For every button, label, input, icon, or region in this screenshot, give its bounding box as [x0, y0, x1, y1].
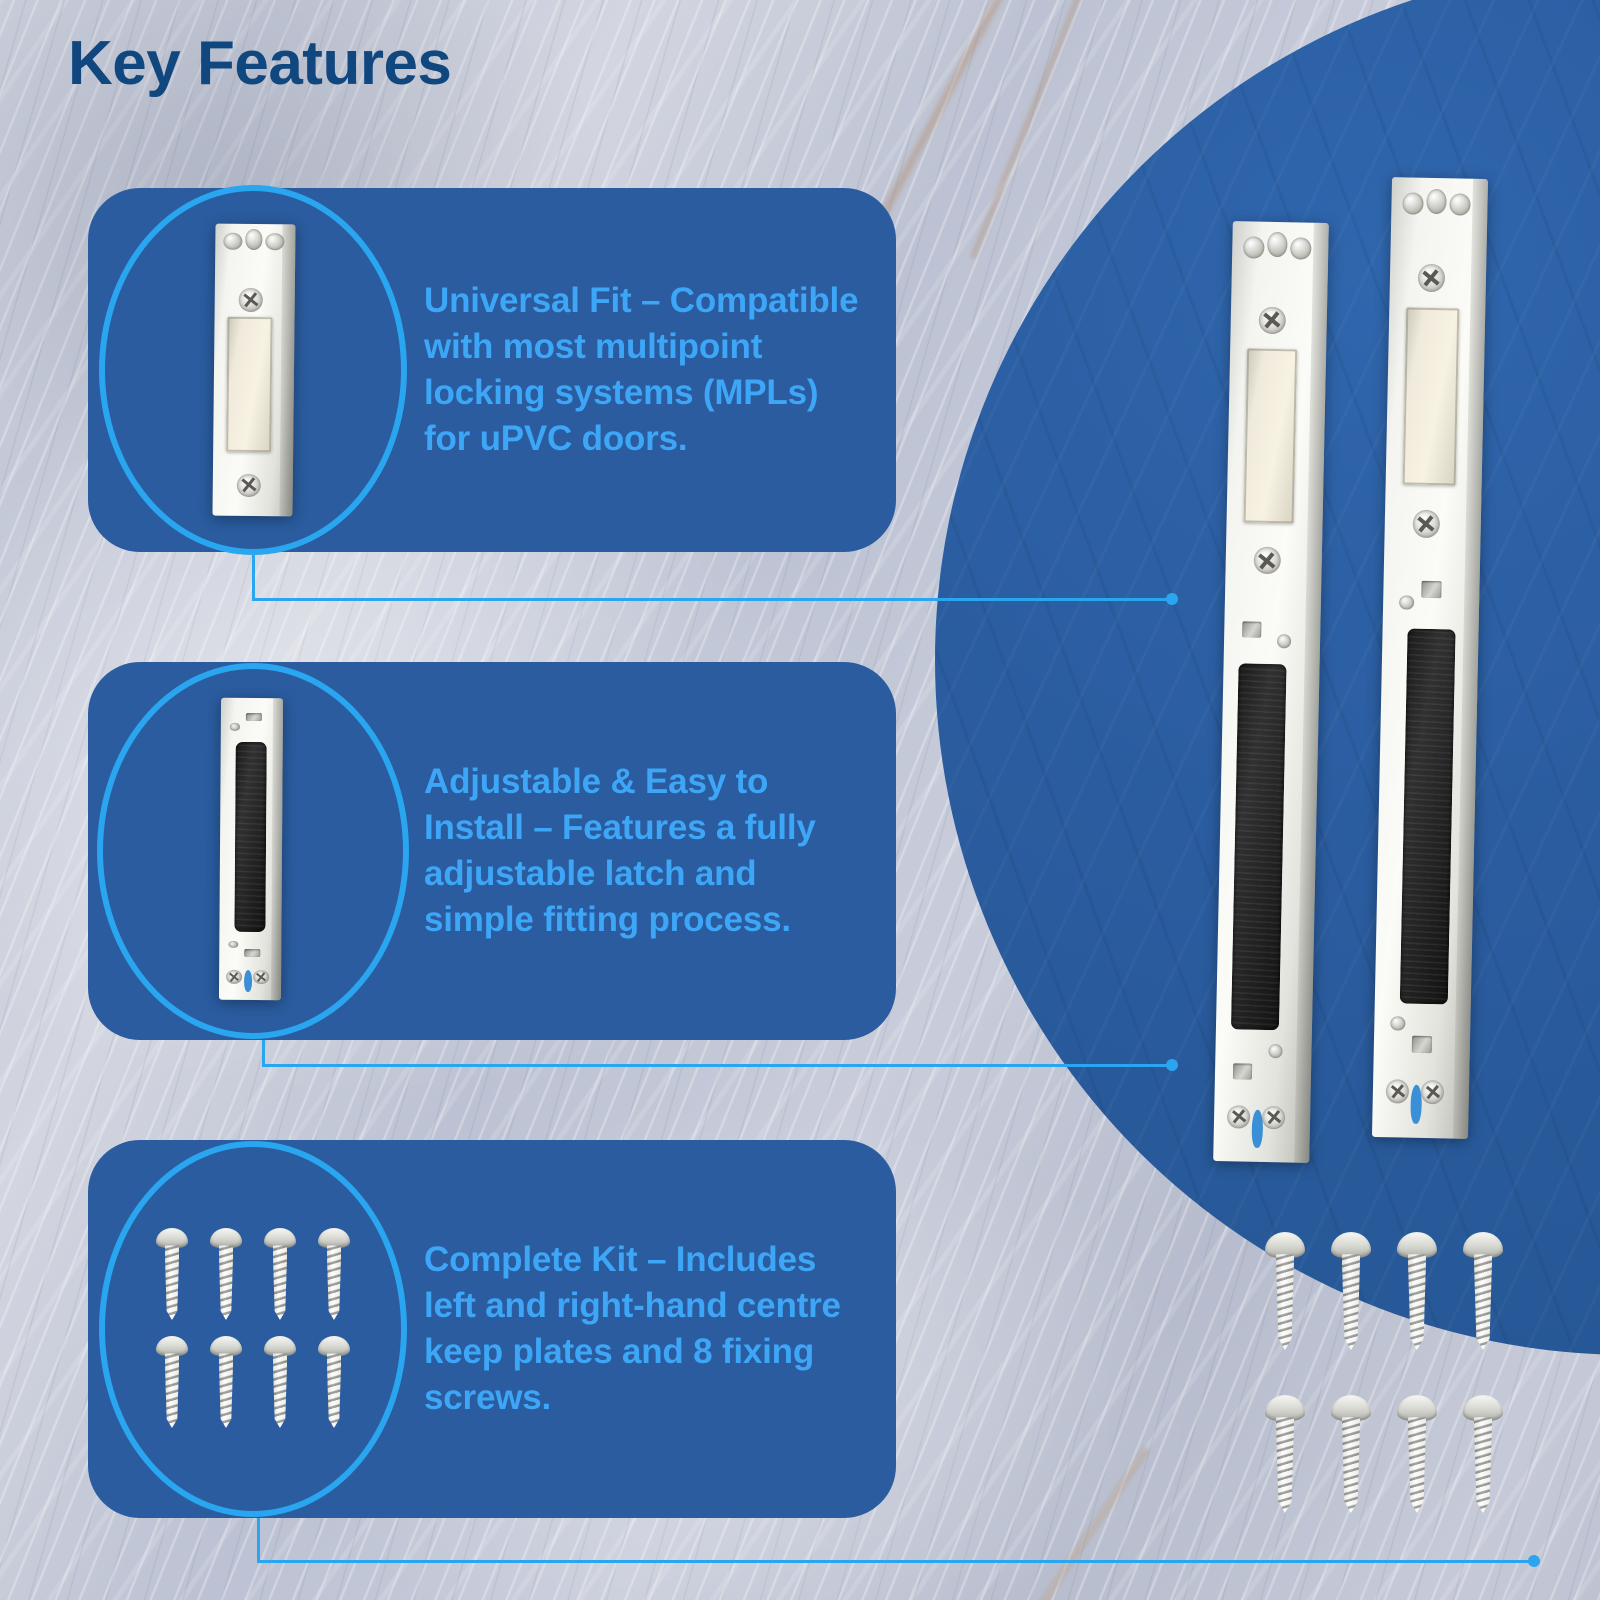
kit-screw	[264, 1336, 296, 1428]
connector-endpoint-dot	[1528, 1555, 1540, 1567]
screw-shaft	[273, 1245, 288, 1320]
connector-horizontal-segment	[257, 1560, 1532, 1563]
feature-card-adjustable-easy-install[interactable]: Adjustable & Easy to Install – Features …	[88, 662, 896, 1040]
kit-screw	[210, 1228, 242, 1320]
screw-shaft	[165, 1353, 180, 1428]
connector-vertical-segment	[257, 1512, 260, 1562]
plate-slot-upper	[246, 713, 262, 721]
plate-top-hole-2	[245, 229, 263, 250]
plate-keyhole-notch	[244, 970, 252, 993]
kit-screw	[156, 1336, 188, 1428]
feature-card-universal-fit[interactable]: Universal Fit – Compatible with most mul…	[88, 188, 896, 552]
screw-head	[318, 1336, 350, 1356]
screw-shaft	[165, 1245, 180, 1320]
screw-head	[156, 1336, 188, 1356]
plate-top-hole-1	[223, 232, 242, 250]
screw-shaft	[219, 1353, 234, 1428]
kit-screw	[318, 1228, 350, 1320]
plate-slot-lower	[244, 949, 260, 957]
plate-round-hole-upper	[229, 723, 240, 730]
plate-screw-upper	[239, 288, 263, 312]
screw-grid	[156, 1228, 352, 1428]
feature-visual-complete-kit	[88, 1140, 418, 1518]
feature-visual-adjustable	[88, 662, 418, 1040]
screw-shaft	[219, 1245, 234, 1320]
screw-shaft	[273, 1353, 288, 1428]
screw-head	[264, 1228, 296, 1248]
plate-fixing-hole-right	[253, 970, 269, 984]
screw-head	[210, 1228, 242, 1248]
kit-screw	[264, 1228, 296, 1320]
plate-edge-shading	[271, 698, 283, 1000]
plate-fixing-hole-left	[226, 970, 242, 984]
screw-shaft	[327, 1353, 342, 1428]
kit-screw	[156, 1228, 188, 1320]
plate-latch-window	[226, 317, 272, 452]
screw-head	[210, 1336, 242, 1356]
keep-plate-brush-closeup	[219, 698, 283, 1000]
feature-text-universal-fit: Universal Fit – Compatible with most mul…	[418, 278, 896, 463]
screw-head	[264, 1336, 296, 1356]
plate-round-hole-lower	[228, 941, 239, 948]
plate-top-hole-3	[265, 233, 284, 251]
plate-brush-insert	[234, 742, 266, 932]
page-title: Key Features	[68, 28, 451, 99]
feature-card-complete-kit[interactable]: Complete Kit – Includes left and right-h…	[88, 1140, 896, 1518]
screw-shaft	[327, 1245, 342, 1320]
kit-screw	[210, 1336, 242, 1428]
feature-text-complete-kit: Complete Kit – Includes left and right-h…	[418, 1237, 896, 1422]
feature-text-adjustable-easy-install: Adjustable & Easy to Install – Features …	[418, 759, 896, 944]
kit-screw	[318, 1336, 350, 1428]
feature-visual-universal-fit	[88, 188, 418, 552]
screw-head	[318, 1228, 350, 1248]
plate-screw-lower	[237, 473, 261, 497]
keep-plate-latch-closeup	[212, 224, 295, 517]
screw-head	[156, 1228, 188, 1248]
